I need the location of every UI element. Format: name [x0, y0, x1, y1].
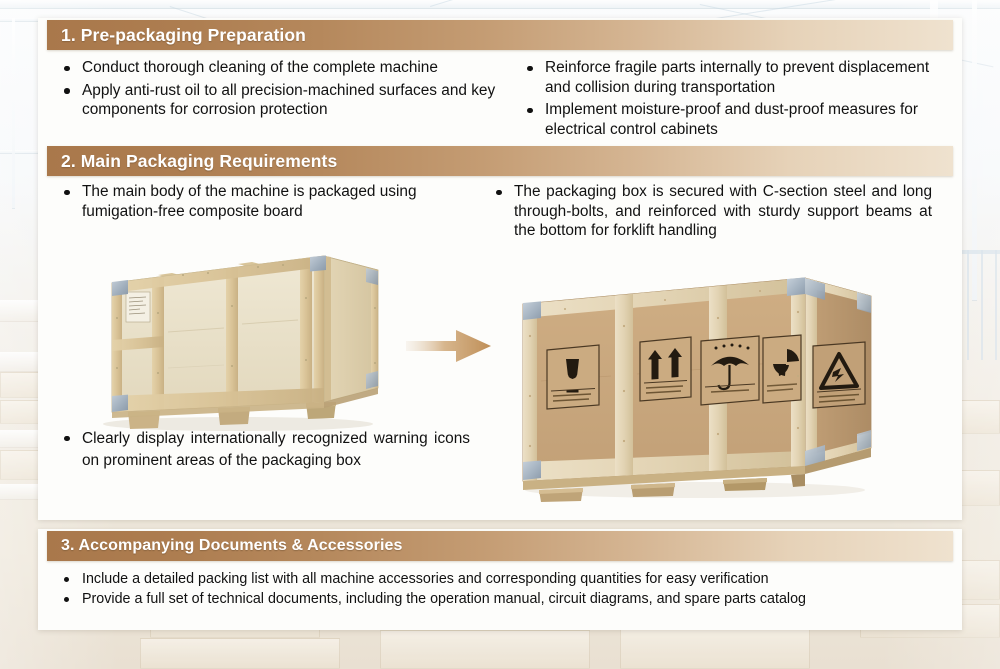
- section-header-accompanying-documents: 3. Accompanying Documents & Accessories: [47, 531, 953, 561]
- section-header-pre-packaging: 1. Pre-packaging Preparation: [47, 20, 953, 50]
- list-item: Provide a full set of technical document…: [60, 590, 940, 608]
- list-item: Conduct thorough cleaning of the complet…: [60, 58, 512, 78]
- this-side-up-arrows-icon: [640, 337, 691, 401]
- section-title: 1. Pre-packaging Preparation: [47, 25, 306, 46]
- list-item: Include a detailed packing list with all…: [60, 570, 940, 588]
- section2-right-bullets: The packaging box is secured with C-sect…: [492, 182, 932, 244]
- list-item: Implement moisture-proof and dust-proof …: [523, 100, 943, 139]
- list-item: Clearly display internationally recogniz…: [60, 428, 470, 472]
- list-item: Apply anti-rust oil to all precision-mac…: [60, 81, 512, 120]
- section-title: 3. Accompanying Documents & Accessories: [47, 537, 403, 555]
- section-title: 2. Main Packaging Requirements: [47, 151, 337, 172]
- section1-left-bullets: Conduct thorough cleaning of the complet…: [60, 58, 512, 123]
- keep-dry-umbrella-icon: [701, 336, 759, 405]
- hazard-warning-triangle-icon: [813, 342, 865, 408]
- section3-bullets: Include a detailed packing list with all…: [60, 570, 940, 610]
- section2-lower-left-bullets: Clearly display internationally recogniz…: [60, 428, 470, 475]
- plywood-shipping-crate-image: [88, 248, 384, 434]
- section2-left-bullets: The main body of the machine is packaged…: [60, 182, 480, 224]
- section-header-main-packaging: 2. Main Packaging Requirements: [47, 146, 953, 176]
- section1-right-bullets: Reinforce fragile parts internally to pr…: [523, 58, 943, 142]
- fragile-glass-icon: [547, 345, 599, 409]
- kraft-panel-shipping-crate-image: [505, 276, 875, 502]
- list-item: The packaging box is secured with C-sect…: [492, 182, 932, 241]
- list-item: Reinforce fragile parts internally to pr…: [523, 58, 943, 97]
- list-item: The main body of the machine is packaged…: [60, 182, 480, 221]
- keep-away-from-sunlight-icon: [763, 335, 801, 403]
- process-arrow-icon: [406, 327, 492, 365]
